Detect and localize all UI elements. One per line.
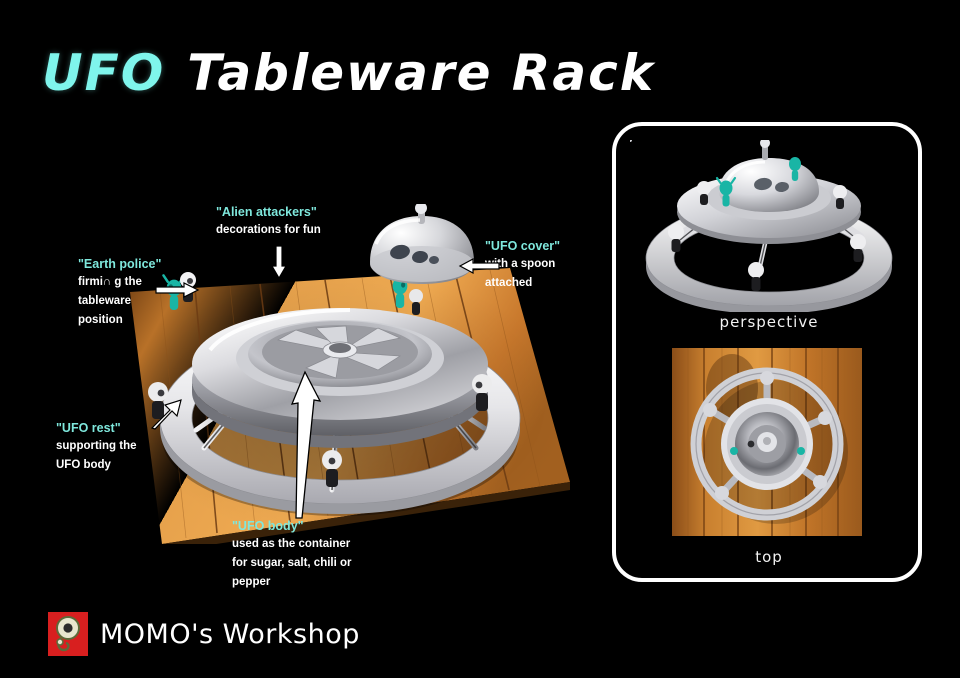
callout-ufo-body-line-2: pepper xyxy=(232,573,352,592)
callout-ufo-body-line-0: used as the container xyxy=(232,535,352,554)
brand-logo: MOMO's Workshop xyxy=(48,612,360,656)
callout-alien-attackers: "Alien attackers" decorations for fun xyxy=(216,204,321,240)
callout-earth-police-line-0: firmi∩ g the xyxy=(78,273,161,292)
ufo-body xyxy=(192,308,488,448)
callout-earth-police-line-2: position xyxy=(78,311,161,330)
arrow-icon-ufo-rest xyxy=(150,398,184,430)
arrow-icon-alien-attackers xyxy=(271,244,287,280)
caption-top: top xyxy=(630,548,908,566)
poster-canvas: UFOTableware Rack xyxy=(0,0,960,678)
callout-alien-attackers-head: "Alien attackers" xyxy=(216,204,321,221)
momo-mascot-icon xyxy=(48,612,88,656)
callout-alien-attackers-line-0: decorations for fun xyxy=(216,221,321,240)
arrow-icon-earth-police xyxy=(154,282,200,298)
callout-ufo-cover-head: "UFO cover" xyxy=(485,238,560,255)
ufo-cover xyxy=(358,204,486,296)
callout-ufo-rest: "UFO rest" supporting the UFO body xyxy=(56,420,137,475)
callout-earth-police-head: "Earth police" xyxy=(78,256,161,273)
caption-perspective: perspective xyxy=(630,313,908,331)
title-tableware-rack: Tableware Rack xyxy=(187,44,655,102)
brand-name: MOMO's Workshop xyxy=(100,619,360,650)
callout-ufo-body-line-1: for sugar, salt, chili or xyxy=(232,554,352,573)
arrow-icon-ufo-body xyxy=(288,370,322,520)
callout-earth-police-line-1: tableware xyxy=(78,292,161,311)
title-ufo: UFO xyxy=(42,44,165,102)
callout-ufo-cover-line-1: attached xyxy=(485,274,560,293)
callout-ufo-rest-line-0: supporting the xyxy=(56,437,137,456)
arrow-icon-ufo-cover xyxy=(459,258,501,274)
spoon-knob xyxy=(415,204,427,214)
callout-ufo-rest-head: "UFO rest" xyxy=(56,420,137,437)
callout-ufo-body-head: "UFO body" xyxy=(232,518,352,535)
callout-earth-police: "Earth police" firmi∩ g the tableware po… xyxy=(78,256,161,330)
top-view xyxy=(672,348,862,536)
callout-ufo-body: "UFO body" used as the container for sug… xyxy=(232,518,352,592)
callout-ufo-rest-line-1: UFO body xyxy=(56,456,137,475)
perspective-view xyxy=(630,140,908,312)
page-title: UFOTableware Rack xyxy=(42,44,655,102)
